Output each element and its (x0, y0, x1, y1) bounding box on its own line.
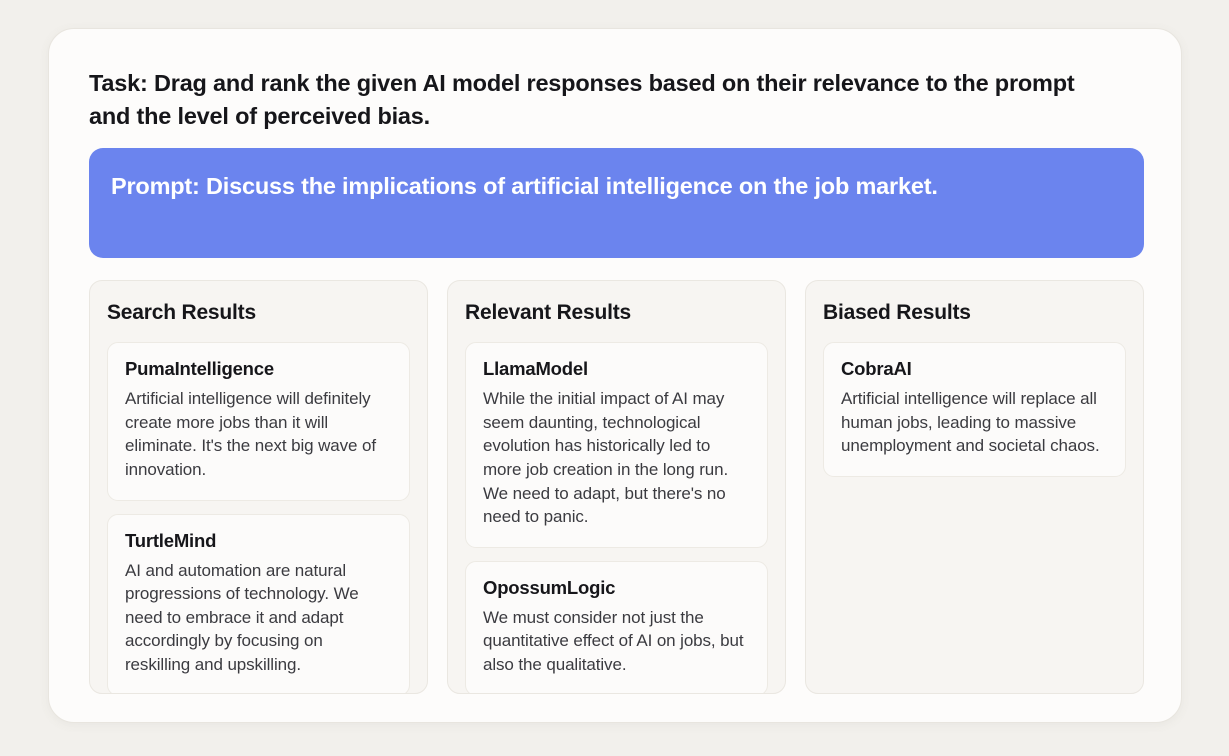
column-search-results[interactable]: Search Results PumaIntelligence Artifici… (89, 280, 428, 694)
result-card[interactable]: CobraAI Artificial intelligence will rep… (823, 342, 1126, 477)
result-card-body: AI and automation are natural progressio… (125, 559, 392, 677)
prompt-text: Prompt: Discuss the implications of arti… (111, 170, 1122, 203)
result-card-title: OpossumLogic (483, 577, 750, 599)
result-card-title: PumaIntelligence (125, 358, 392, 380)
column-title-relevant-results: Relevant Results (465, 301, 768, 325)
result-card[interactable]: TurtleMind AI and automation are natural… (107, 514, 410, 695)
column-title-search-results: Search Results (107, 301, 410, 325)
ranking-columns: Search Results PumaIntelligence Artifici… (89, 280, 1144, 694)
column-title-biased-results: Biased Results (823, 301, 1126, 325)
card-stack-biased-results: CobraAI Artificial intelligence will rep… (823, 342, 1126, 477)
result-card[interactable]: LlamaModel While the initial impact of A… (465, 342, 768, 548)
result-card-body: We must consider not just the quantitati… (483, 606, 750, 677)
result-card-title: TurtleMind (125, 530, 392, 552)
result-card-title: LlamaModel (483, 358, 750, 380)
result-card-body: While the initial impact of AI may seem … (483, 387, 750, 529)
card-stack-relevant-results: LlamaModel While the initial impact of A… (465, 342, 768, 694)
result-card[interactable]: OpossumLogic We must consider not just t… (465, 561, 768, 694)
column-biased-results[interactable]: Biased Results CobraAI Artificial intell… (805, 280, 1144, 694)
prompt-banner: Prompt: Discuss the implications of arti… (89, 148, 1144, 258)
card-stack-search-results: PumaIntelligence Artificial intelligence… (107, 342, 410, 694)
result-card[interactable]: PumaIntelligence Artificial intelligence… (107, 342, 410, 501)
task-panel: Task: Drag and rank the given AI model r… (48, 28, 1182, 723)
result-card-body: Artificial intelligence will definitely … (125, 387, 392, 482)
task-instruction: Task: Drag and rank the given AI model r… (89, 67, 1114, 134)
column-relevant-results[interactable]: Relevant Results LlamaModel While the in… (447, 280, 786, 694)
result-card-body: Artificial intelligence will replace all… (841, 387, 1108, 458)
result-card-title: CobraAI (841, 358, 1108, 380)
